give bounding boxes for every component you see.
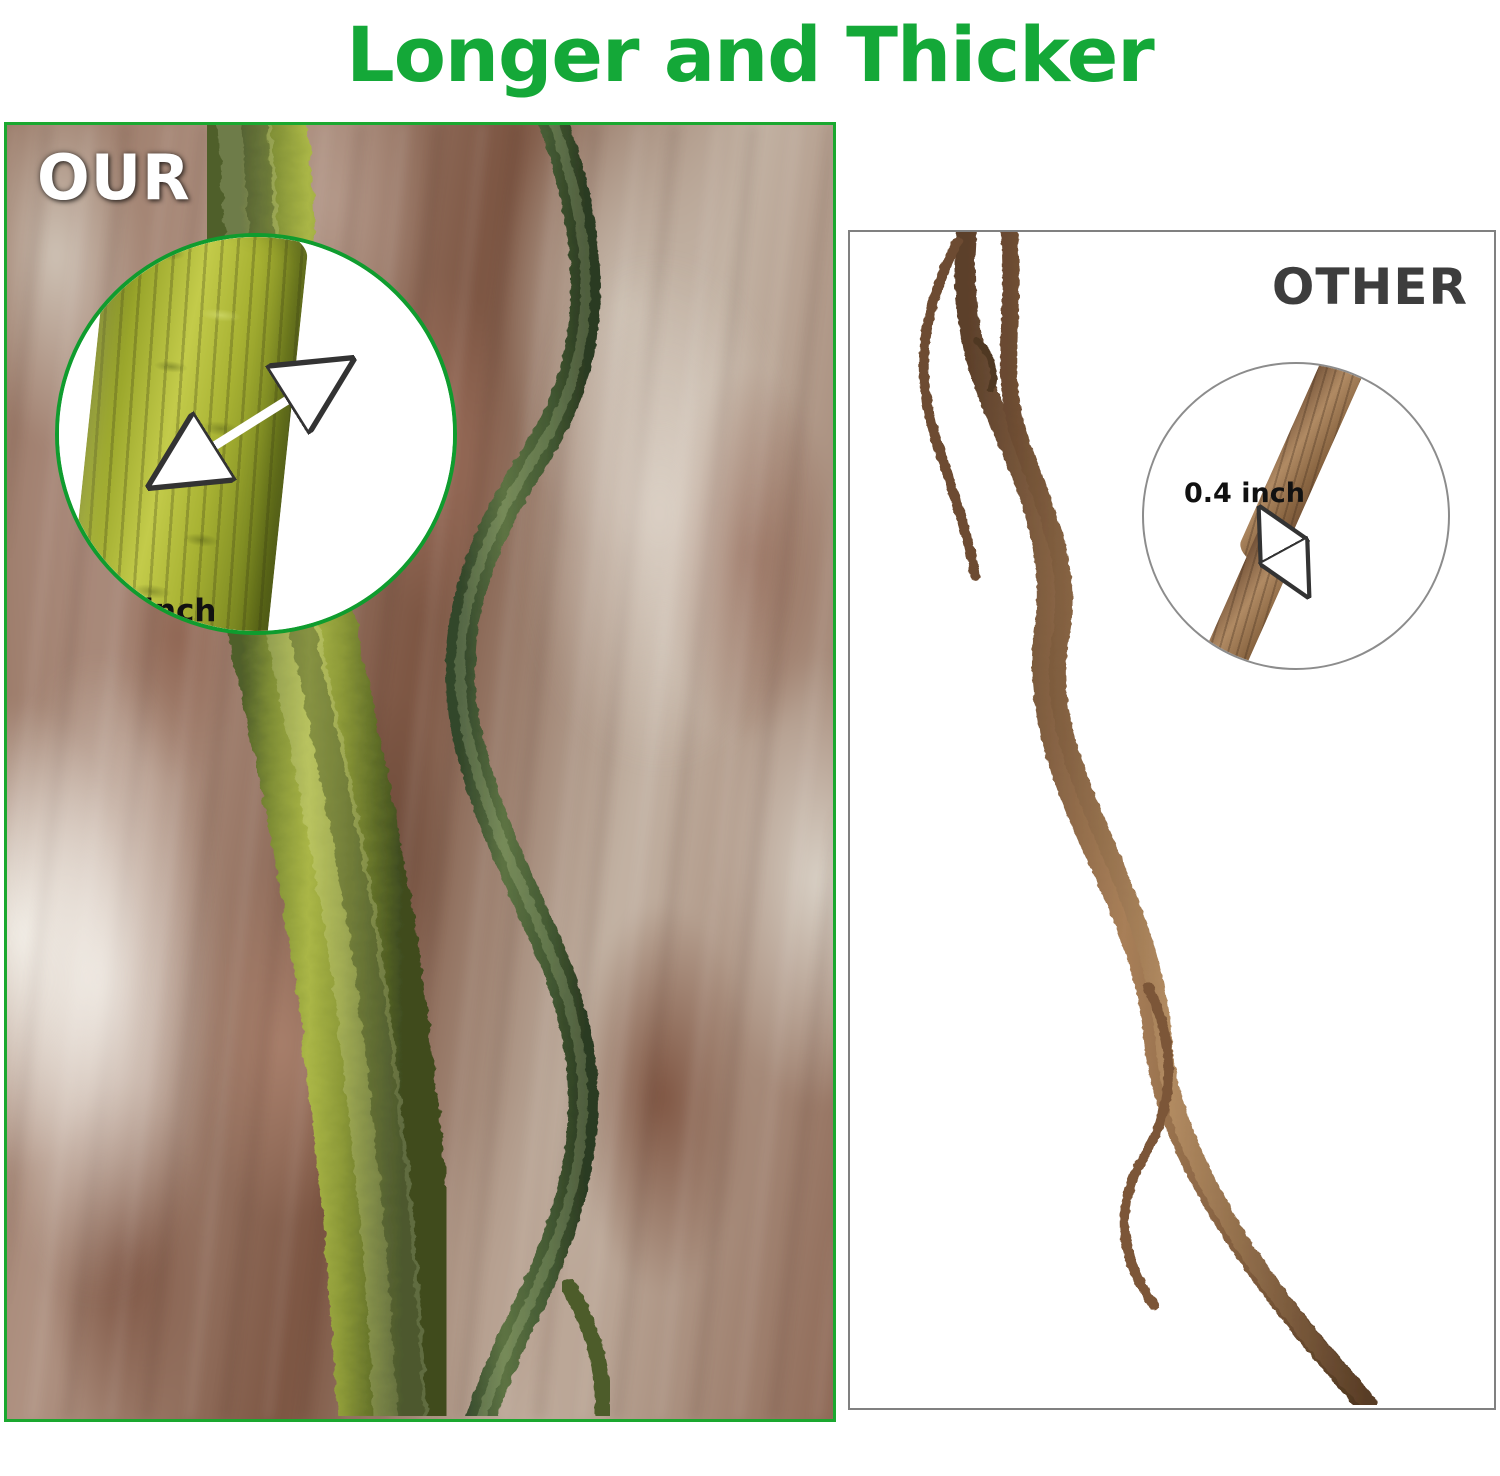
our-product-panel: OUR 1 inch	[4, 122, 836, 1422]
our-label: OUR	[37, 141, 191, 214]
our-magnifier-circle: 1 inch	[55, 233, 457, 635]
other-measure-arrow	[1144, 364, 1448, 668]
our-magnifier-content: 1 inch	[59, 237, 453, 631]
page-title: Longer and Thicker	[0, 0, 1500, 108]
other-label: OTHER	[1272, 258, 1468, 316]
other-measurement-label: 0.4 inch	[1184, 478, 1305, 509]
our-measure-arrow	[59, 237, 453, 631]
other-product-panel: OTHER 0.4 inch	[848, 230, 1496, 1410]
other-magnifier-circle: 0.4 inch	[1142, 362, 1450, 670]
our-measurement-label: 1 inch	[111, 593, 217, 629]
